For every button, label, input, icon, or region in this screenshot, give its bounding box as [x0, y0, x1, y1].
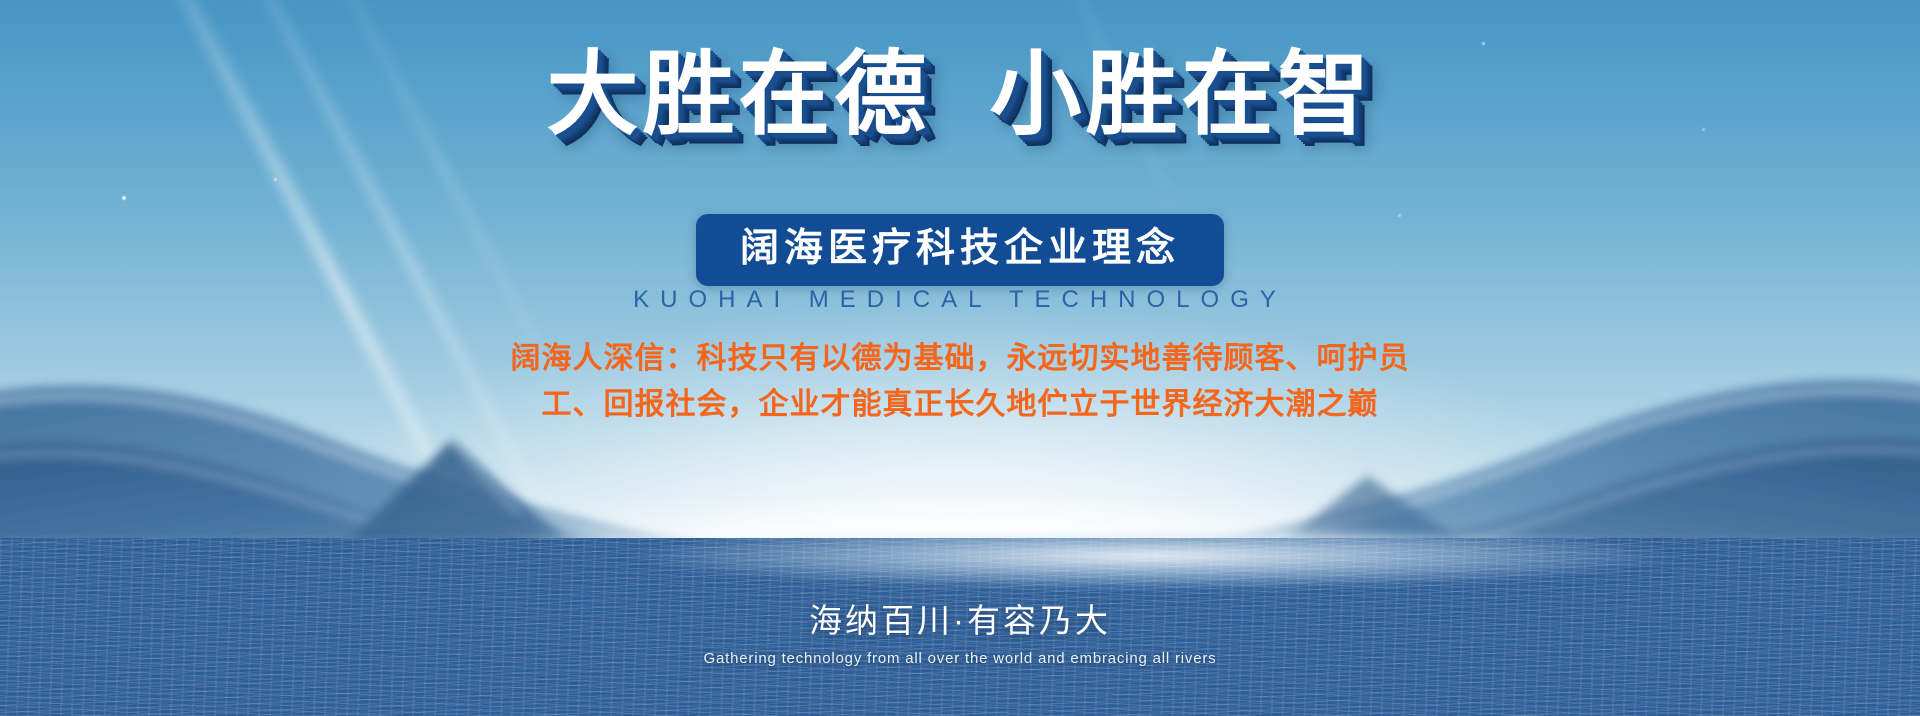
badge-container: 阔海医疗科技企业理念 [0, 214, 1920, 286]
hero-banner: 大胜在德 小胜在智 阔海医疗科技企业理念 KUOHAI MEDICAL TECH… [0, 0, 1920, 716]
motto-chinese: 海纳百川·有容乃大 [0, 594, 1920, 642]
philosophy-line-1: 阔海人深信：科技只有以德为基础，永远切实地善待顾客、呵护员 [0, 336, 1920, 382]
motto-english: Gathering technology from all over the w… [0, 650, 1920, 667]
banner-content: 大胜在德 小胜在智 阔海医疗科技企业理念 KUOHAI MEDICAL TECH… [0, 0, 1920, 716]
status-badge: 阔海医疗科技企业理念 [696, 214, 1224, 286]
subtitle-english: KUOHAI MEDICAL TECHNOLOGY [0, 286, 1920, 314]
philosophy-line-2: 工、回报社会，企业才能真正长久地伫立于世界经济大潮之巅 [0, 382, 1920, 428]
page-title: 大胜在德 小胜在智 [0, 47, 1920, 144]
philosophy-paragraph: 阔海人深信：科技只有以德为基础，永远切实地善待顾客、呵护员 工、回报社会，企业才… [0, 336, 1920, 428]
